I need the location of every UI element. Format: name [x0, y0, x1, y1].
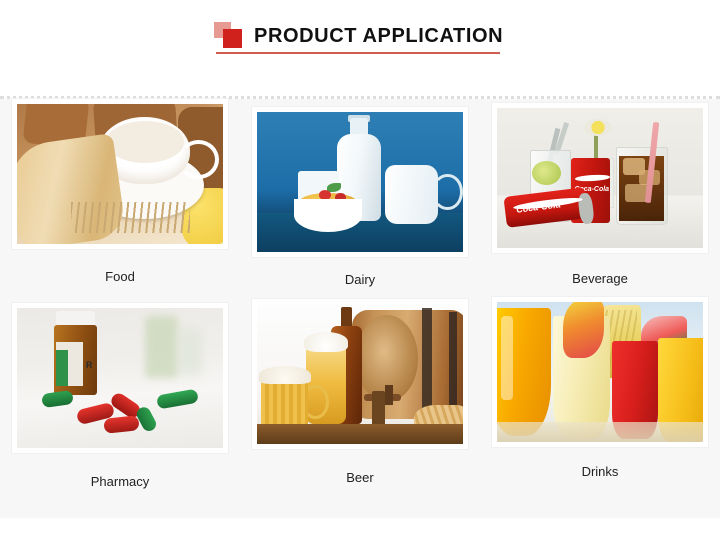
application-cell-beverage[interactable]: Coca-Cola Coca-Cola Beverage [492, 99, 720, 286]
caption-beer: Beer [252, 471, 468, 484]
page-title: PRODUCT APPLICATION [254, 26, 503, 46]
logo-square-dark-icon [223, 29, 242, 48]
page-header: PRODUCT APPLICATION [0, 0, 720, 98]
caption-pharmacy: Pharmacy [12, 475, 228, 488]
application-cell-food[interactable]: Food [12, 99, 240, 286]
application-cell-beer[interactable]: Beer [252, 303, 480, 488]
application-cell-dairy[interactable]: Dairy [252, 99, 480, 286]
beverage-photo: Coca-Cola Coca-Cola [497, 108, 703, 248]
dairy-photo [257, 112, 463, 252]
application-section: Food [0, 99, 720, 518]
application-cell-drinks[interactable]: Drinks [492, 303, 720, 488]
beer-photo [257, 304, 463, 444]
food-photo [17, 104, 223, 244]
caption-food: Food [12, 270, 228, 283]
prescription-letter: R [79, 353, 100, 378]
caption-dairy: Dairy [252, 273, 468, 286]
image-card[interactable]: Coca-Cola Coca-Cola [492, 103, 708, 253]
image-card[interactable] [492, 297, 708, 447]
two-squares-logo-icon [214, 22, 246, 50]
image-card[interactable]: R [12, 303, 228, 453]
pharmacy-photo: R [17, 308, 223, 448]
image-card[interactable] [252, 299, 468, 449]
title-block: PRODUCT APPLICATION [214, 22, 503, 50]
caption-beverage: Beverage [492, 272, 708, 285]
title-underline [216, 52, 500, 54]
image-card[interactable] [12, 99, 228, 249]
grid-row: R Pharmacy [0, 303, 720, 488]
application-grid: Food [0, 99, 720, 488]
application-cell-pharmacy[interactable]: R Pharmacy [12, 303, 240, 488]
caption-drinks: Drinks [492, 465, 708, 478]
image-card[interactable] [252, 107, 468, 257]
drinks-photo [497, 302, 703, 442]
grid-row: Food [0, 99, 720, 286]
